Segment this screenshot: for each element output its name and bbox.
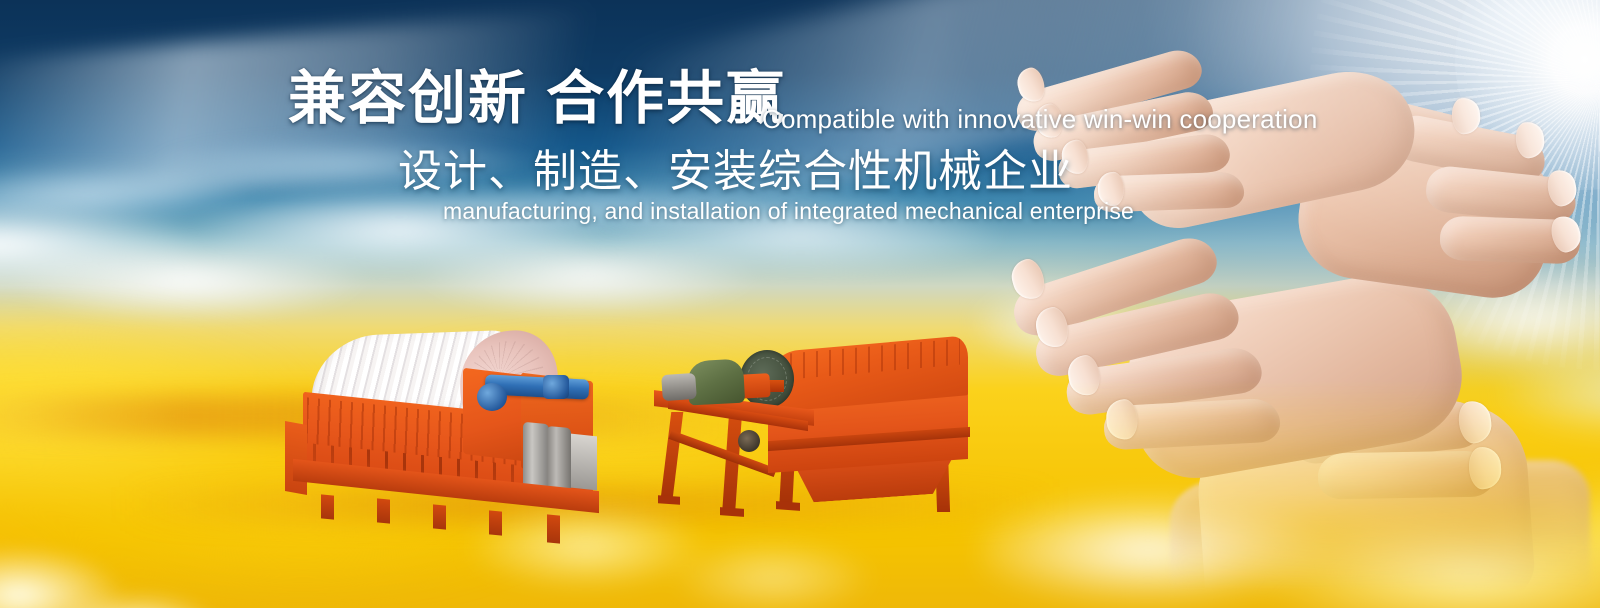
promo-banner: 兼容创新 合作共赢 Compatible with innovative win… bbox=[0, 0, 1600, 608]
headline-chinese: 兼容创新 合作共赢 bbox=[288, 70, 786, 128]
subheadline-english: manufacturing, and installation of integ… bbox=[443, 200, 1134, 223]
headline-english: Compatible with innovative win-win coope… bbox=[762, 106, 1317, 132]
subheadline-chinese: 设计、制造、安装综合性机械企业 bbox=[398, 150, 1073, 194]
banner-copy: 兼容创新 合作共赢 Compatible with innovative win… bbox=[0, 0, 1600, 608]
